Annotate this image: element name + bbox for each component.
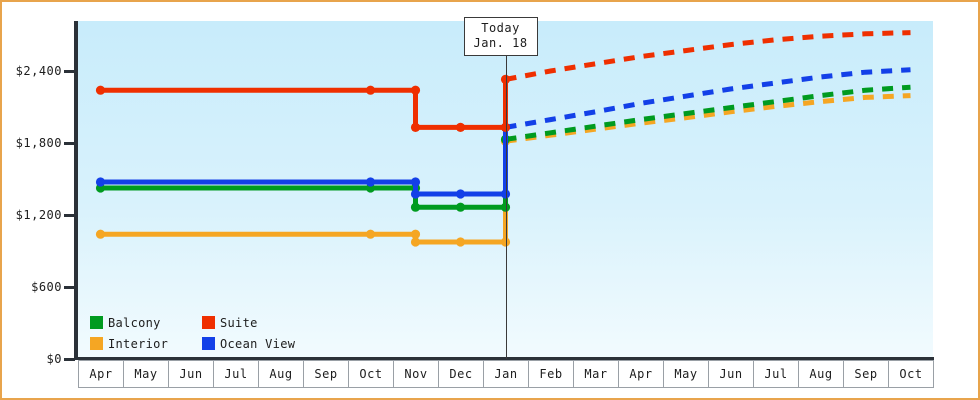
- legend-label: Ocean View: [220, 337, 295, 351]
- x-axis-month-cell[interactable]: Jun: [169, 360, 214, 388]
- y-axis-label: $1,800: [16, 137, 62, 149]
- x-axis-month-cell[interactable]: Jun: [709, 360, 754, 388]
- legend-swatch-icon: [90, 337, 103, 350]
- y-axis-label: $600: [31, 281, 62, 293]
- x-axis-month-cell[interactable]: Jan: [484, 360, 529, 388]
- legend-label: Suite: [220, 316, 258, 330]
- today-vertical-line: [506, 56, 507, 359]
- y-axis-label: $0: [47, 353, 62, 365]
- x-axis-month-cell[interactable]: Aug: [259, 360, 304, 388]
- x-axis-month-cell[interactable]: Sep: [844, 360, 889, 388]
- price-history-chart: $0$600$1,200$1,800$2,400 Today Jan. 18 B…: [0, 0, 980, 400]
- legend-label: Balcony: [108, 316, 161, 330]
- today-tooltip-title: Today: [474, 21, 528, 36]
- legend-item[interactable]: Interior: [90, 337, 202, 351]
- legend-item[interactable]: Balcony: [90, 316, 202, 330]
- x-axis-month-cell[interactable]: Feb: [529, 360, 574, 388]
- x-axis-month-cell[interactable]: May: [664, 360, 709, 388]
- x-axis-month-cell[interactable]: Oct: [349, 360, 394, 388]
- chart-legend: BalconySuiteInteriorOcean View: [90, 312, 295, 354]
- legend-item[interactable]: Suite: [202, 316, 295, 330]
- x-axis-month-cell[interactable]: Apr: [619, 360, 664, 388]
- legend-swatch-icon: [202, 337, 215, 350]
- x-axis-month-cell[interactable]: Mar: [574, 360, 619, 388]
- legend-label: Interior: [108, 337, 168, 351]
- x-axis-month-cell[interactable]: Dec: [439, 360, 484, 388]
- x-axis-month-cell[interactable]: Jul: [214, 360, 259, 388]
- x-axis-month-cell[interactable]: May: [124, 360, 169, 388]
- x-axis-month-cell[interactable]: Sep: [304, 360, 349, 388]
- legend-item[interactable]: Ocean View: [202, 337, 295, 351]
- legend-swatch-icon: [202, 316, 215, 329]
- x-axis-month-cell[interactable]: Aug: [799, 360, 844, 388]
- today-tooltip-date: Jan. 18: [474, 36, 528, 51]
- x-axis-month-cell[interactable]: Oct: [889, 360, 934, 388]
- y-axis-labels: $0$600$1,200$1,800$2,400: [2, 2, 62, 400]
- today-tooltip: Today Jan. 18: [464, 17, 538, 56]
- x-axis-month-row: AprMayJunJulAugSepOctNovDecJanFebMarAprM…: [78, 360, 934, 388]
- x-axis-month-cell[interactable]: Jul: [754, 360, 799, 388]
- y-axis-label: $2,400: [16, 65, 62, 77]
- y-axis-label: $1,200: [16, 209, 62, 221]
- legend-swatch-icon: [90, 316, 103, 329]
- x-axis-month-cell[interactable]: Apr: [79, 360, 124, 388]
- x-axis-month-cell[interactable]: Nov: [394, 360, 439, 388]
